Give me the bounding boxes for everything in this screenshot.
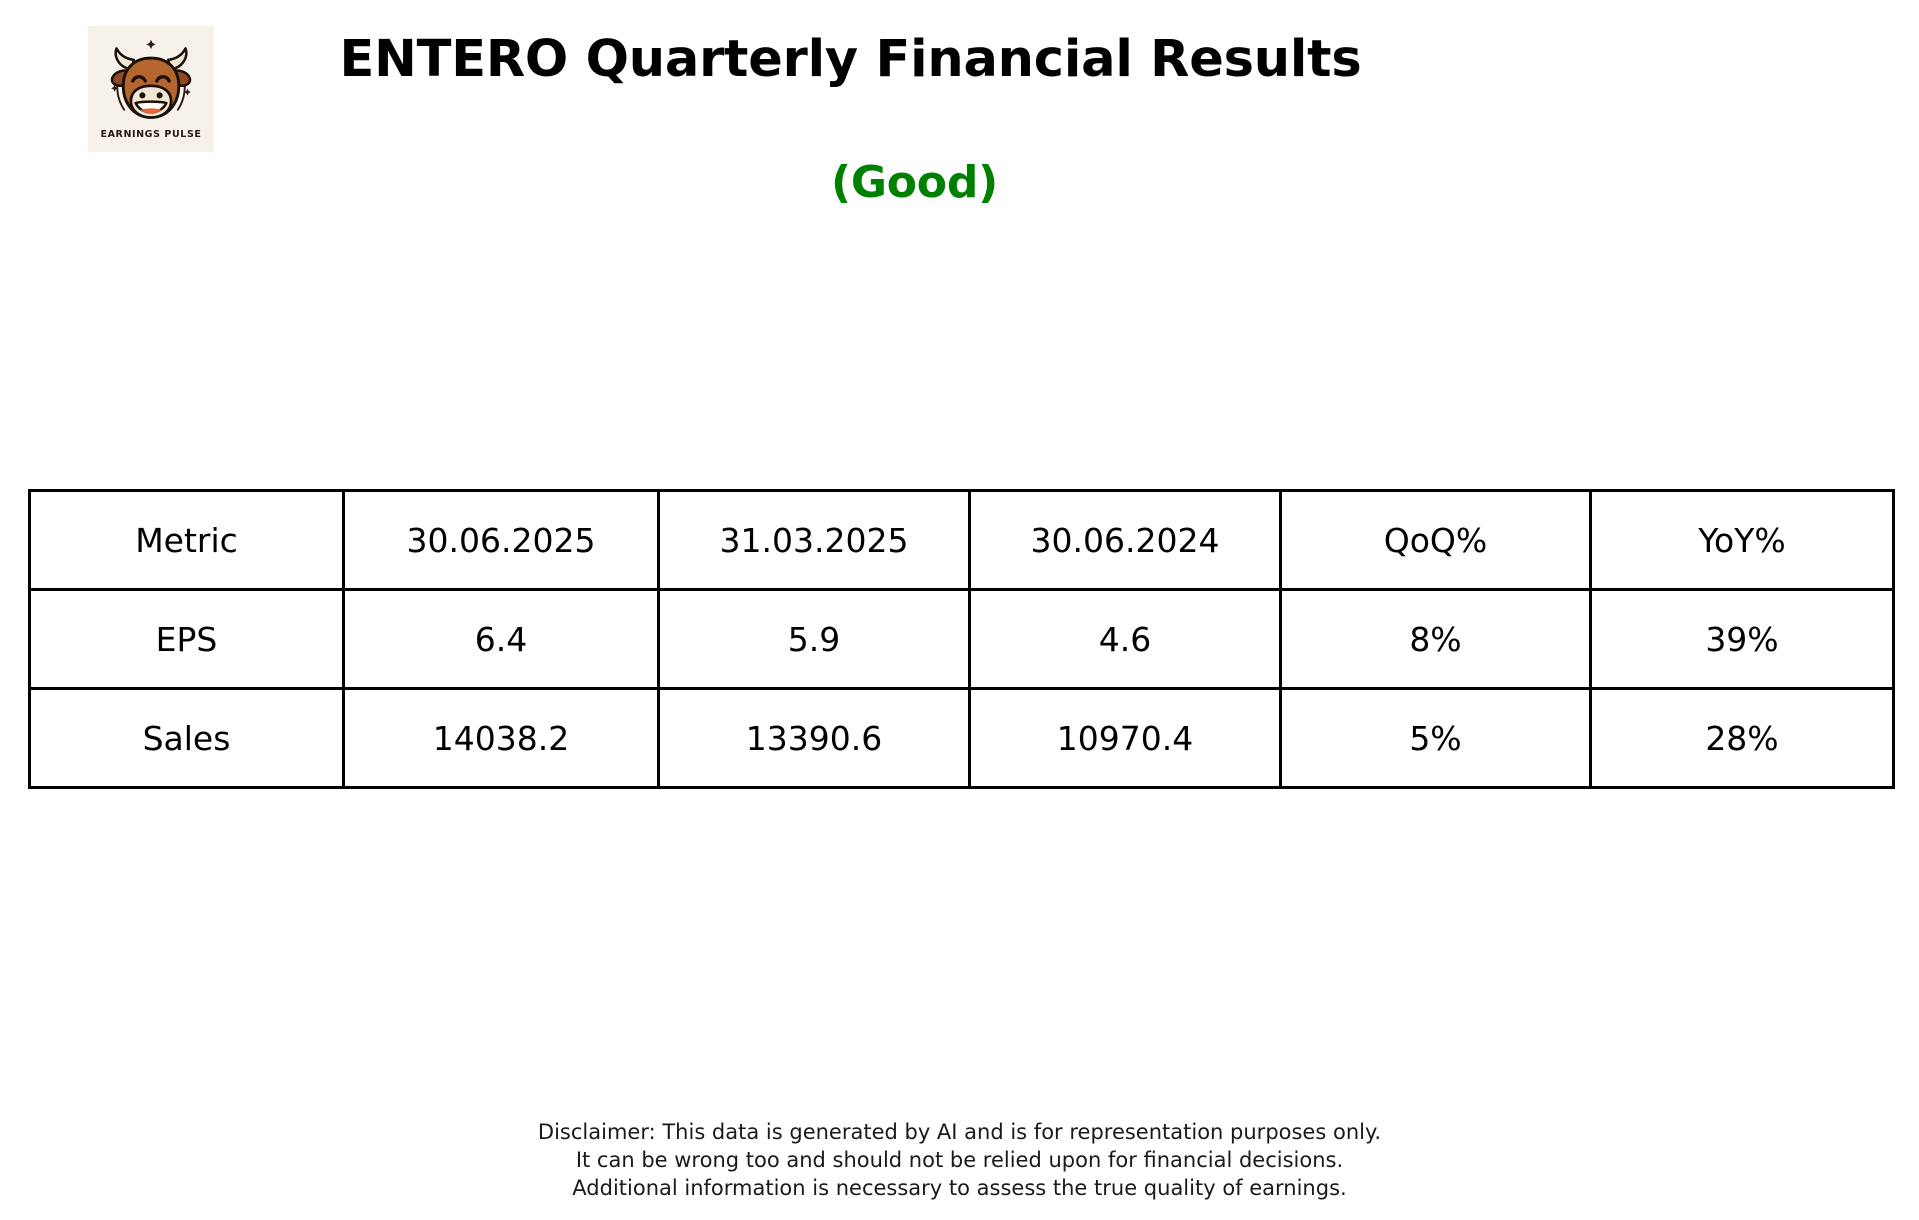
eps-30-06-2025: 6.4 <box>344 590 659 689</box>
eps-yoy: 39% <box>1591 590 1894 689</box>
column-header-30-06-2025: 30.06.2025 <box>344 491 659 590</box>
page-subtitle-text: (Good) <box>831 157 998 208</box>
eps-31-03-2025: 5.9 <box>659 590 970 689</box>
logo-caption: EARNINGS PULSE <box>100 129 201 140</box>
column-header-metric: Metric <box>30 491 344 590</box>
disclaimer: Disclaimer: This data is generated by AI… <box>0 1118 1919 1202</box>
column-header-31-03-2025: 31.03.2025 <box>659 491 970 590</box>
disclaimer-line-1: Disclaimer: This data is generated by AI… <box>0 1118 1919 1146</box>
row-label-sales: Sales <box>30 689 344 788</box>
sales-qoq: 5% <box>1281 689 1591 788</box>
eps-30-06-2024: 4.6 <box>970 590 1281 689</box>
page-title-text: ENTERO Quarterly Financial Results <box>339 30 1361 89</box>
column-header-30-06-2024: 30.06.2024 <box>970 491 1281 590</box>
financial-results-table: Metric 30.06.2025 31.03.2025 30.06.2024 … <box>28 489 1892 789</box>
table-row: EPS 6.4 5.9 4.6 8% 39% <box>30 590 1894 689</box>
disclaimer-line-2: It can be wrong too and should not be re… <box>0 1146 1919 1174</box>
eps-qoq: 8% <box>1281 590 1591 689</box>
table-header-row: Metric 30.06.2025 31.03.2025 30.06.2024 … <box>30 491 1894 590</box>
sales-30-06-2024: 10970.4 <box>970 689 1281 788</box>
sales-yoy: 28% <box>1591 689 1894 788</box>
row-label-eps: EPS <box>30 590 344 689</box>
table-row: Sales 14038.2 13390.6 10970.4 5% 28% <box>30 689 1894 788</box>
sales-30-06-2025: 14038.2 <box>344 689 659 788</box>
page-subtitle: (Good) <box>0 157 1919 208</box>
column-header-yoy: YoY% <box>1591 491 1894 590</box>
sales-31-03-2025: 13390.6 <box>659 689 970 788</box>
page-title: ENTERO Quarterly Financial Results <box>0 30 1919 89</box>
column-header-qoq: QoQ% <box>1281 491 1591 590</box>
disclaimer-line-3: Additional information is necessary to a… <box>0 1174 1919 1202</box>
